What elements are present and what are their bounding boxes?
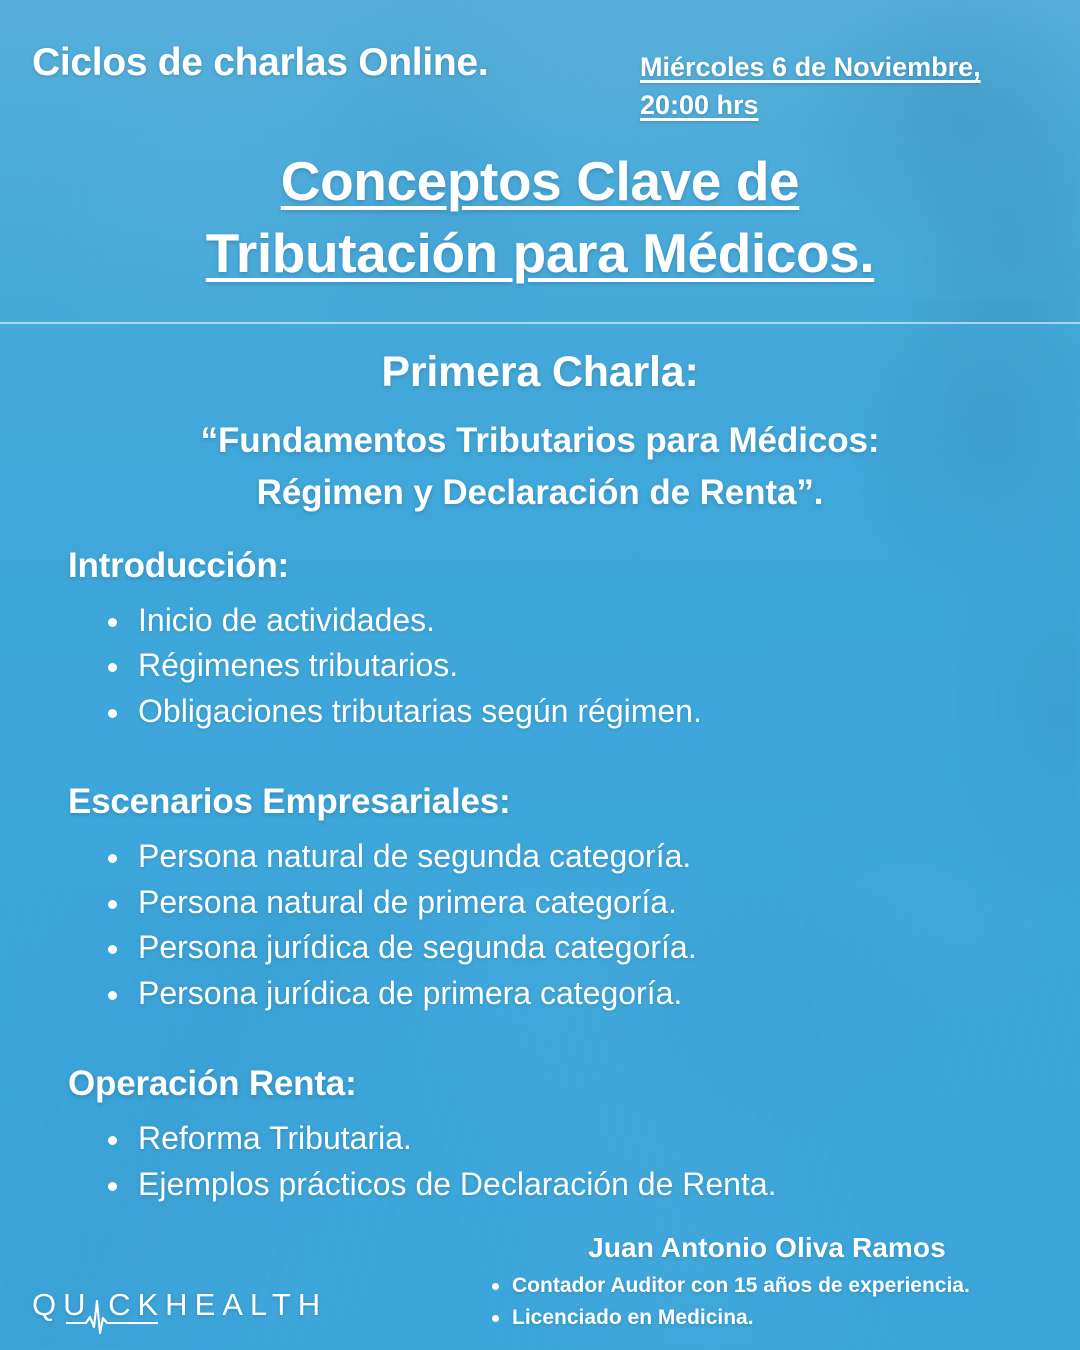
agenda-section-title: Operación Renta: <box>68 1064 1040 1104</box>
event-datetime: Miércoles 6 de Noviembre, 20:00 hrs <box>640 42 1050 125</box>
list-item: Persona jurídica de segunda categoría. <box>104 925 1040 970</box>
agenda-section: Escenarios Empresariales: Persona natura… <box>68 782 1040 1016</box>
agenda-section: Operación Renta: Reforma Tributaria. Eje… <box>68 1064 1040 1207</box>
list-item: Inicio de actividades. <box>104 598 1040 643</box>
agenda-section-title: Escenarios Empresariales: <box>68 782 1040 822</box>
quickhealth-logo: QU CKHEALTH <box>32 1282 327 1326</box>
speaker-name: Juan Antonio Oliva Ramos <box>472 1232 1062 1264</box>
agenda-section: Introducción: Inicio de actividades. Rég… <box>68 546 1040 734</box>
agenda: Introducción: Inicio de actividades. Rég… <box>68 546 1040 1207</box>
webinar-poster: Ciclos de charlas Online. Miércoles 6 de… <box>0 0 1080 1350</box>
event-date: Miércoles 6 de Noviembre, <box>640 52 981 82</box>
list-item: Persona jurídica de primera categoría. <box>104 971 1040 1016</box>
brand-tagline: Ciclos de charlas Online. <box>32 42 488 84</box>
speaker-credentials-list: Contador Auditor con 15 años de experien… <box>472 1270 1062 1334</box>
list-item: Reforma Tributaria. <box>104 1116 1040 1161</box>
page-title: Conceptos Clave de Tributación para Médi… <box>0 146 1080 289</box>
speaker-block: Juan Antonio Oliva Ramos Contador Audito… <box>472 1232 1062 1334</box>
list-item: Persona natural de segunda categoría. <box>104 834 1040 879</box>
talk-title-line-2: Régimen y Declaración de Renta”. <box>257 473 824 512</box>
event-time: 20:00 hrs <box>640 90 759 120</box>
page-title-line-2: Tributación para Médicos. <box>206 222 874 284</box>
logo-wordmark: QU CKHEALTH <box>32 1289 327 1320</box>
agenda-section-list: Inicio de actividades. Régimenes tributa… <box>68 598 1040 734</box>
header-row: Ciclos de charlas Online. Miércoles 6 de… <box>0 42 1080 125</box>
list-item: Persona natural de primera categoría. <box>104 880 1040 925</box>
list-item: Contador Auditor con 15 años de experien… <box>490 1270 1062 1302</box>
list-item: Ejemplos prácticos de Declaración de Ren… <box>104 1162 1040 1207</box>
page-title-line-1: Conceptos Clave de <box>281 150 800 212</box>
agenda-section-title: Introducción: <box>68 546 1040 586</box>
list-item: Obligaciones tributarias según régimen. <box>104 689 1040 734</box>
talk-label: Primera Charla: <box>0 348 1080 397</box>
agenda-section-list: Persona natural de segunda categoría. Pe… <box>68 834 1040 1016</box>
agenda-section-list: Reforma Tributaria. Ejemplos prácticos d… <box>68 1116 1040 1207</box>
talk-title-line-1: “Fundamentos Tributarios para Médicos: <box>201 421 880 460</box>
talk-title: “Fundamentos Tributarios para Médicos: R… <box>60 415 1020 519</box>
list-item: Régimenes tributarios. <box>104 643 1040 688</box>
list-item: Licenciado en Medicina. <box>490 1302 1062 1334</box>
